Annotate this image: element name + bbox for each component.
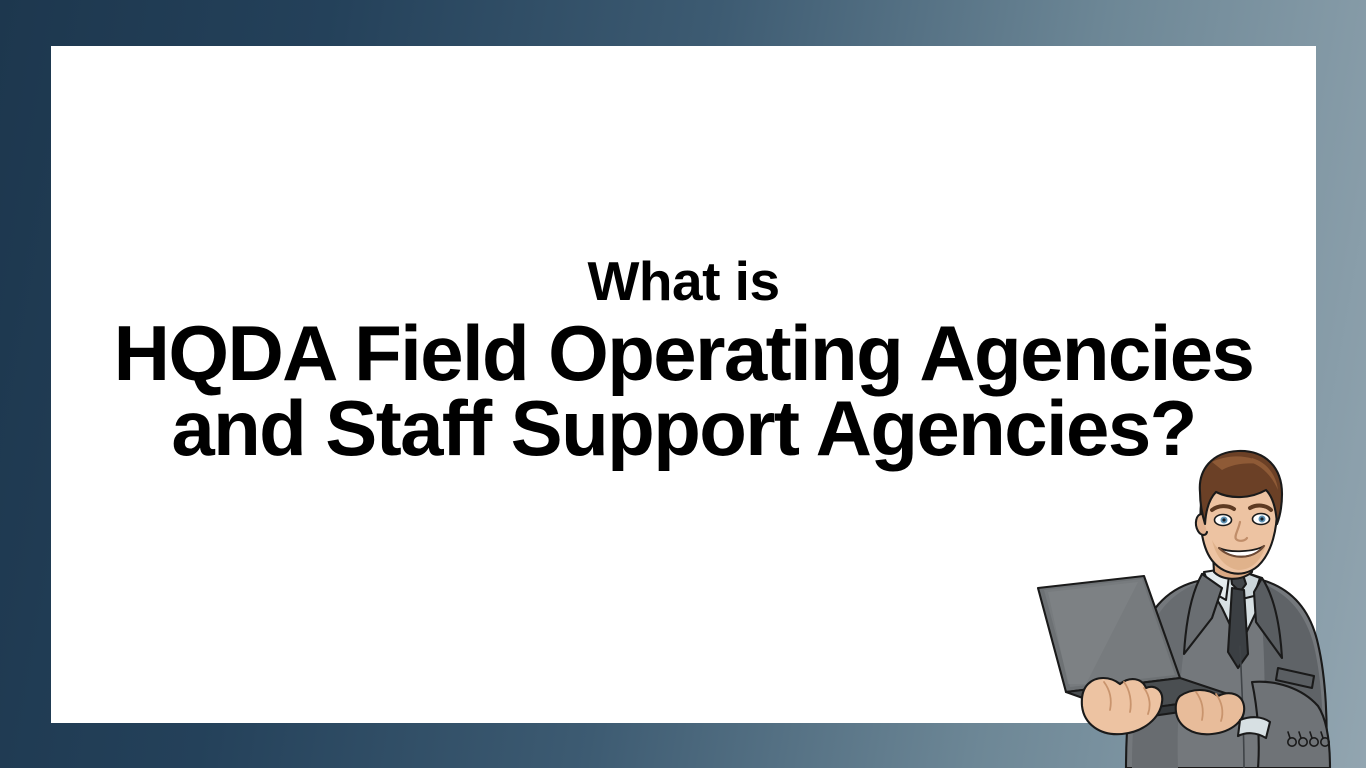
page-title: HQDA Field Operating Agencies and Staff … — [65, 316, 1302, 466]
eyebrow-text: What is — [65, 252, 1302, 310]
content-card: What is HQDA Field Operating Agencies an… — [51, 46, 1316, 723]
headline-line-1: HQDA Field Operating Agencies — [65, 316, 1302, 391]
headline-line-2: and Staff Support Agencies? — [65, 391, 1302, 466]
slide-root: What is HQDA Field Operating Agencies an… — [0, 0, 1366, 768]
title-block: What is HQDA Field Operating Agencies an… — [51, 252, 1316, 466]
